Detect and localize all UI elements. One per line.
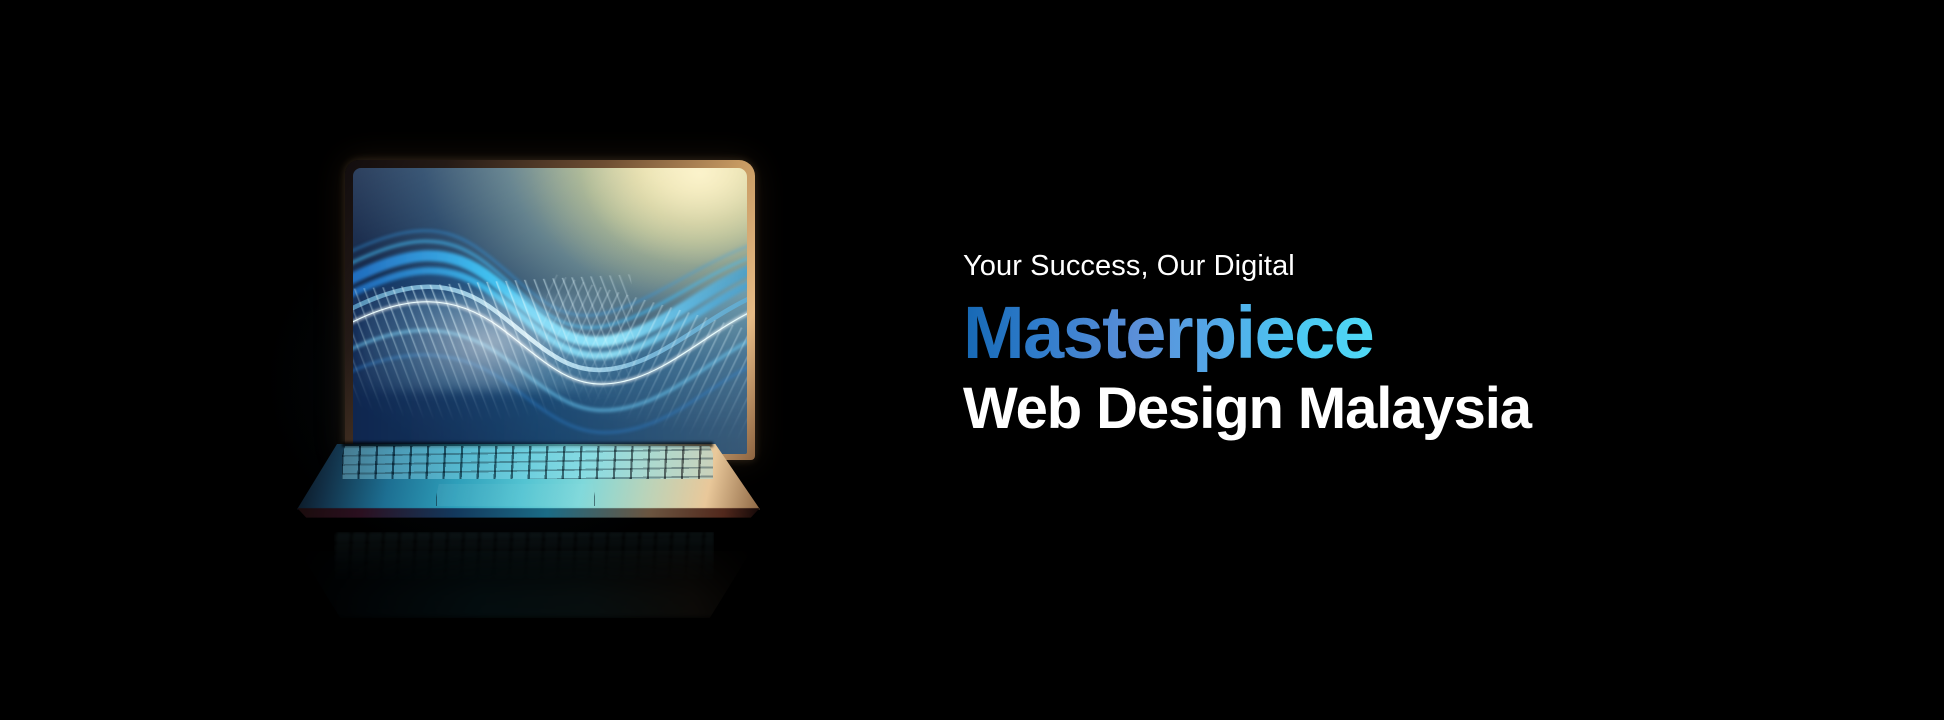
- hero-banner: Your Success, Our Digital Masterpiece We…: [0, 0, 1944, 720]
- laptop-visual: [290, 160, 760, 620]
- laptop-lid: [345, 160, 755, 460]
- laptop-base: [290, 444, 760, 520]
- headline-main-line: Web Design Malaysia: [963, 377, 1783, 441]
- laptop-reflection-keys: [334, 532, 714, 584]
- laptop-screen: [353, 168, 747, 454]
- laptop-trackpad: [436, 484, 596, 507]
- headline-block: Your Success, Our Digital Masterpiece We…: [963, 248, 1783, 441]
- headline-accent-word: Masterpiece: [963, 293, 1373, 372]
- laptop-keyboard: [342, 446, 713, 479]
- laptop-front-lip: [297, 508, 760, 518]
- headline-eyebrow: Your Success, Our Digital: [963, 248, 1783, 284]
